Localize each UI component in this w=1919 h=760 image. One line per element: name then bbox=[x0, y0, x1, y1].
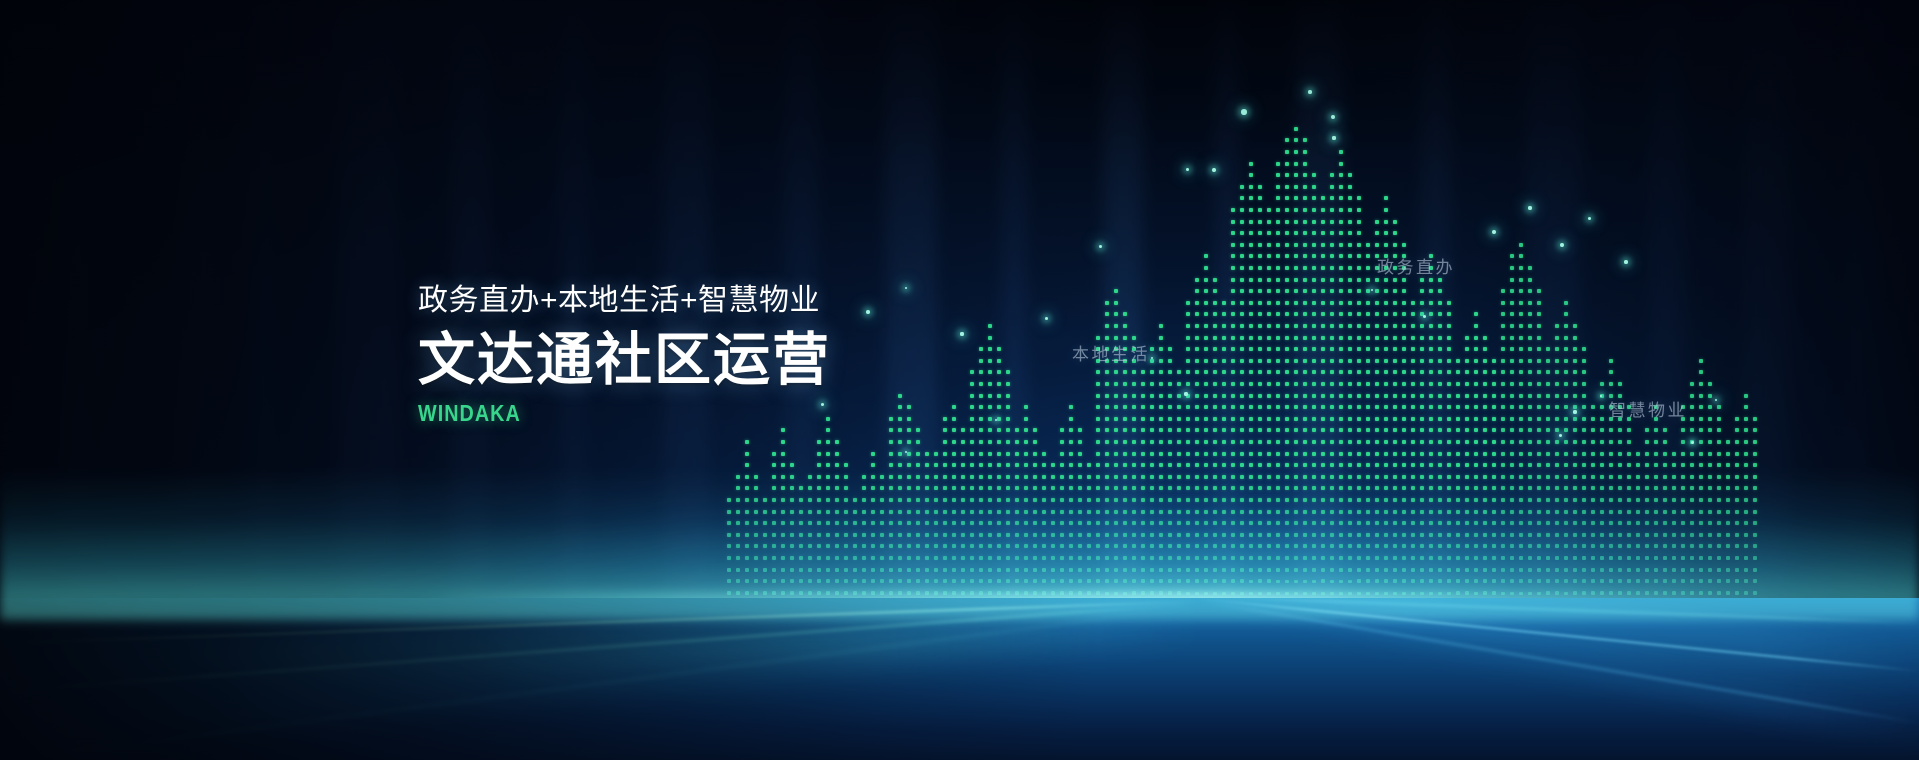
skyline-dot bbox=[880, 510, 884, 514]
skyline-dot bbox=[1627, 463, 1631, 467]
skyline-dot bbox=[970, 405, 974, 409]
sparkle-particle bbox=[1045, 317, 1048, 320]
skyline-dot bbox=[1249, 347, 1253, 351]
skyline-dot bbox=[1096, 370, 1100, 374]
skyline-dot bbox=[1303, 150, 1307, 154]
skyline-dot bbox=[1159, 498, 1163, 502]
skyline-dot bbox=[772, 579, 776, 583]
skyline-dot bbox=[1366, 452, 1370, 456]
skyline-dot bbox=[1240, 266, 1244, 270]
skyline-dot bbox=[961, 463, 965, 467]
skyline-dot bbox=[1258, 428, 1262, 432]
skyline-dot bbox=[1393, 324, 1397, 328]
skyline-dot bbox=[1555, 486, 1559, 490]
skyline-dot bbox=[1636, 452, 1640, 456]
skyline-dot bbox=[1375, 220, 1379, 224]
skyline-dot bbox=[1348, 289, 1352, 293]
skyline-dot bbox=[1555, 359, 1559, 363]
skyline-dot bbox=[1510, 428, 1514, 432]
skyline-dot bbox=[1402, 475, 1406, 479]
skyline-dot bbox=[1420, 359, 1424, 363]
skyline-dot bbox=[889, 486, 893, 490]
skyline-dot bbox=[1114, 359, 1118, 363]
skyline-dot bbox=[1078, 579, 1082, 583]
skyline-dot bbox=[952, 405, 956, 409]
skyline-dot bbox=[1357, 347, 1361, 351]
skyline-dot bbox=[1375, 336, 1379, 340]
skyline-dot bbox=[754, 556, 758, 560]
skyline-dot bbox=[889, 568, 893, 572]
skyline-dot bbox=[1240, 185, 1244, 189]
skyline-dot bbox=[1231, 417, 1235, 421]
skyline-dot bbox=[1285, 498, 1289, 502]
skyline-dot bbox=[1321, 382, 1325, 386]
skyline-dot bbox=[1357, 208, 1361, 212]
skyline-dot bbox=[1348, 463, 1352, 467]
skyline-dot bbox=[1429, 394, 1433, 398]
skyline-dot bbox=[1159, 405, 1163, 409]
skyline-dot bbox=[1582, 394, 1586, 398]
skyline-dot bbox=[1294, 336, 1298, 340]
skyline-dot bbox=[1015, 428, 1019, 432]
skyline-dot bbox=[943, 498, 947, 502]
skyline-dot bbox=[1447, 428, 1451, 432]
skyline-dot bbox=[916, 556, 920, 560]
skyline-dot bbox=[1114, 579, 1118, 583]
skyline-dot bbox=[1285, 452, 1289, 456]
skyline-dot bbox=[1249, 382, 1253, 386]
skyline-dot bbox=[1582, 579, 1586, 583]
sparkle-particle bbox=[1624, 260, 1628, 264]
skyline-dot bbox=[907, 405, 911, 409]
skyline-dot bbox=[997, 533, 1001, 537]
skyline-dot bbox=[1222, 347, 1226, 351]
skyline-dot bbox=[1267, 220, 1271, 224]
skyline-dot bbox=[1528, 312, 1532, 316]
skyline-dot bbox=[835, 498, 839, 502]
skyline-dot bbox=[1573, 475, 1577, 479]
skyline-dot bbox=[1744, 510, 1748, 514]
skyline-dot bbox=[1141, 475, 1145, 479]
skyline-dot bbox=[1591, 440, 1595, 444]
skyline-dot bbox=[1114, 521, 1118, 525]
skyline-dot bbox=[979, 452, 983, 456]
sparkle-particle bbox=[1331, 115, 1335, 119]
skyline-dot bbox=[1303, 347, 1307, 351]
skyline-dot bbox=[1141, 440, 1145, 444]
skyline-dot bbox=[1141, 370, 1145, 374]
skyline-dot bbox=[1600, 463, 1604, 467]
skyline-dot bbox=[1618, 475, 1622, 479]
skyline-dot bbox=[1276, 440, 1280, 444]
skyline-dot bbox=[1438, 486, 1442, 490]
skyline-dot bbox=[844, 568, 848, 572]
skyline-dot bbox=[1303, 208, 1307, 212]
skyline-dot bbox=[1150, 521, 1154, 525]
skyline-dot bbox=[1339, 312, 1343, 316]
skyline-dot bbox=[1105, 568, 1109, 572]
skyline-dot bbox=[1159, 544, 1163, 548]
skyline-dot bbox=[1060, 440, 1064, 444]
skyline-dot bbox=[1114, 382, 1118, 386]
skyline-dot bbox=[988, 579, 992, 583]
skyline-dot bbox=[1321, 486, 1325, 490]
skyline-dot bbox=[1564, 336, 1568, 340]
skyline-dot bbox=[1222, 394, 1226, 398]
skyline-dot bbox=[745, 533, 749, 537]
skyline-dot bbox=[1204, 254, 1208, 258]
skyline-dot bbox=[1267, 533, 1271, 537]
skyline-dot bbox=[772, 533, 776, 537]
skyline-dot bbox=[1249, 196, 1253, 200]
skyline-dot bbox=[1132, 521, 1136, 525]
skyline-dot bbox=[1258, 568, 1262, 572]
skyline-dot bbox=[898, 533, 902, 537]
skyline-dot bbox=[1510, 452, 1514, 456]
skyline-dot bbox=[1528, 568, 1532, 572]
skyline-dot bbox=[1429, 592, 1433, 595]
skyline-dot bbox=[1510, 463, 1514, 467]
skyline-dot bbox=[1177, 405, 1181, 409]
skyline-dot bbox=[1348, 580, 1352, 583]
skyline-dot bbox=[1015, 591, 1019, 595]
skyline-dot bbox=[1231, 521, 1235, 525]
skyline-dot bbox=[1618, 405, 1622, 409]
skyline-dot bbox=[1483, 347, 1487, 351]
skyline-dot bbox=[1618, 544, 1622, 548]
skyline-dot bbox=[1582, 591, 1586, 595]
skyline-dot bbox=[1276, 475, 1280, 479]
skyline-dot bbox=[1204, 359, 1208, 363]
skyline-dot bbox=[1042, 591, 1046, 595]
skyline-dot bbox=[763, 591, 767, 595]
skyline-dot bbox=[1321, 231, 1325, 235]
skyline-dot bbox=[1105, 544, 1109, 548]
skyline-dot bbox=[898, 544, 902, 548]
skyline-dot bbox=[1411, 347, 1415, 351]
skyline-dot bbox=[1420, 592, 1424, 595]
skyline-dot bbox=[1447, 417, 1451, 421]
skyline-dot bbox=[1312, 243, 1316, 247]
skyline-dot bbox=[1267, 521, 1271, 525]
skyline-dot bbox=[1690, 510, 1694, 514]
skyline-dot bbox=[1519, 486, 1523, 490]
skyline-dot bbox=[1132, 347, 1136, 351]
skyline-dot bbox=[1672, 591, 1676, 595]
skyline-dot bbox=[790, 533, 794, 537]
skyline-dot bbox=[844, 521, 848, 525]
skyline-dot bbox=[736, 533, 740, 537]
skyline-dot bbox=[961, 591, 965, 595]
skyline-dot bbox=[1618, 591, 1622, 595]
skyline-dot bbox=[754, 498, 758, 502]
skyline-dot bbox=[1357, 324, 1361, 328]
skyline-dot bbox=[1213, 312, 1217, 316]
skyline-dot bbox=[1654, 498, 1658, 502]
skyline-dot bbox=[1384, 592, 1388, 595]
skyline-dot bbox=[871, 579, 875, 583]
skyline-dot bbox=[1591, 428, 1595, 432]
skyline-dot bbox=[1051, 521, 1055, 525]
skyline-dot bbox=[898, 486, 902, 490]
skyline-dot bbox=[1366, 498, 1370, 502]
skyline-dot bbox=[781, 440, 785, 444]
skyline-dot bbox=[1609, 579, 1613, 583]
skyline-dot bbox=[1492, 452, 1496, 456]
skyline-dot bbox=[1753, 521, 1757, 525]
skyline-dot bbox=[1240, 579, 1244, 583]
skyline-dot bbox=[1276, 173, 1280, 177]
skyline-dot bbox=[1411, 579, 1415, 583]
skyline-dot bbox=[1366, 544, 1370, 548]
skyline-dot bbox=[745, 544, 749, 548]
skyline-dot bbox=[835, 544, 839, 548]
skyline-dot bbox=[1474, 521, 1478, 525]
skyline-dot bbox=[1393, 521, 1397, 525]
skyline-dot bbox=[997, 579, 1001, 583]
skyline-dot bbox=[925, 486, 929, 490]
skyline-dot bbox=[835, 568, 839, 572]
skyline-dot bbox=[1267, 510, 1271, 514]
skyline-dot bbox=[1384, 347, 1388, 351]
skyline-dot bbox=[1204, 521, 1208, 525]
skyline-dot bbox=[1339, 394, 1343, 398]
skyline-dot bbox=[1528, 405, 1532, 409]
skyline-dot bbox=[1078, 544, 1082, 548]
skyline-dot bbox=[1546, 579, 1550, 583]
skyline-dot bbox=[1303, 533, 1307, 537]
skyline-dot bbox=[1006, 498, 1010, 502]
skyline-dot bbox=[1303, 173, 1307, 177]
skyline-dot bbox=[1429, 498, 1433, 502]
skyline-dot bbox=[826, 579, 830, 583]
skyline-dot bbox=[1519, 336, 1523, 340]
skyline-dot bbox=[817, 579, 821, 583]
skyline-dot bbox=[1726, 440, 1730, 444]
skyline-dot bbox=[1402, 428, 1406, 432]
skyline-dot bbox=[925, 591, 929, 595]
skyline-dot bbox=[1186, 382, 1190, 386]
skyline-dot bbox=[1294, 162, 1298, 166]
skyline-dot bbox=[1258, 405, 1262, 409]
skyline-dot bbox=[1690, 544, 1694, 548]
skyline-dot bbox=[1447, 405, 1451, 409]
skyline-dot bbox=[1312, 533, 1316, 537]
skyline-dot bbox=[1483, 568, 1487, 572]
skyline-dot bbox=[1645, 533, 1649, 537]
skyline-dot bbox=[1555, 498, 1559, 502]
skyline-dot bbox=[1609, 486, 1613, 490]
skyline-dot bbox=[1510, 394, 1514, 398]
skyline-dot bbox=[997, 521, 1001, 525]
skyline-dot bbox=[1537, 475, 1541, 479]
skyline-dot bbox=[1699, 405, 1703, 409]
skyline-dot bbox=[1438, 370, 1442, 374]
skyline-dot bbox=[1366, 278, 1370, 282]
skyline-dot bbox=[1195, 324, 1199, 328]
skyline-dot bbox=[1159, 533, 1163, 537]
skyline-dot bbox=[1402, 289, 1406, 293]
skyline-dot bbox=[1294, 231, 1298, 235]
skyline-dot bbox=[1006, 417, 1010, 421]
skyline-dot bbox=[1141, 510, 1145, 514]
skyline-dot bbox=[1348, 533, 1352, 537]
skyline-dot bbox=[1690, 556, 1694, 560]
skyline-dot bbox=[1339, 592, 1343, 595]
skyline-dot bbox=[1078, 486, 1082, 490]
skyline-dot bbox=[1528, 266, 1532, 270]
skyline-dot bbox=[1528, 301, 1532, 305]
skyline-dot bbox=[1231, 556, 1235, 560]
skyline-dot bbox=[943, 544, 947, 548]
skyline-dot bbox=[1105, 452, 1109, 456]
skyline-dot bbox=[934, 591, 938, 595]
skyline-dot bbox=[1330, 301, 1334, 305]
skyline-dot bbox=[1537, 359, 1541, 363]
skyline-dot bbox=[1645, 568, 1649, 572]
skyline-dot bbox=[1429, 556, 1433, 560]
skyline-dot bbox=[970, 556, 974, 560]
skyline-dot bbox=[1303, 196, 1307, 200]
skyline-dot bbox=[844, 591, 848, 595]
perspective-ground bbox=[0, 598, 1919, 760]
skyline-dot bbox=[997, 347, 1001, 351]
skyline-dot bbox=[916, 579, 920, 583]
skyline-dot bbox=[844, 463, 848, 467]
skyline-dot bbox=[1492, 486, 1496, 490]
skyline-dot bbox=[1249, 301, 1253, 305]
skyline-dot bbox=[1420, 347, 1424, 351]
skyline-dot bbox=[1447, 521, 1451, 525]
skyline-dot bbox=[1474, 579, 1478, 583]
skyline-dot bbox=[1564, 359, 1568, 363]
skyline-dot bbox=[1753, 510, 1757, 514]
skyline-dot bbox=[1177, 544, 1181, 548]
skyline-dot bbox=[1645, 428, 1649, 432]
skyline-dot bbox=[1420, 533, 1424, 537]
skyline-dot bbox=[889, 510, 893, 514]
skyline-dot bbox=[1105, 324, 1109, 328]
skyline-dot bbox=[1294, 243, 1298, 247]
skyline-dot bbox=[1375, 278, 1379, 282]
skyline-dot bbox=[1519, 544, 1523, 548]
skyline-dot bbox=[1384, 510, 1388, 514]
skyline-dot bbox=[1393, 231, 1397, 235]
skyline-dot bbox=[1555, 370, 1559, 374]
skyline-dot bbox=[1429, 301, 1433, 305]
skyline-dot bbox=[1555, 544, 1559, 548]
skyline-dot bbox=[979, 405, 983, 409]
skyline-dot bbox=[1402, 254, 1406, 258]
skyline-dot bbox=[1465, 394, 1469, 398]
skyline-dot bbox=[1357, 510, 1361, 514]
skyline-dot bbox=[1366, 521, 1370, 525]
skyline-dot bbox=[1438, 475, 1442, 479]
skyline-dot bbox=[871, 521, 875, 525]
skyline-tower bbox=[1321, 0, 1366, 618]
skyline-dot bbox=[1177, 428, 1181, 432]
skyline-dot bbox=[745, 556, 749, 560]
skyline-dot bbox=[1501, 336, 1505, 340]
skyline-dot bbox=[1159, 359, 1163, 363]
skyline-dot bbox=[1672, 452, 1676, 456]
skyline-dot bbox=[862, 510, 866, 514]
skyline-dot bbox=[1330, 463, 1334, 467]
skyline-dot bbox=[1699, 370, 1703, 374]
skyline-dot bbox=[1159, 556, 1163, 560]
skyline-dot bbox=[1456, 370, 1460, 374]
skyline-dot bbox=[1168, 370, 1172, 374]
skyline-dot bbox=[1393, 301, 1397, 305]
skyline-dot bbox=[1744, 428, 1748, 432]
skyline-dot bbox=[1690, 463, 1694, 467]
skyline-dot bbox=[1267, 568, 1271, 572]
skyline-dot bbox=[1312, 440, 1316, 444]
skyline-dot bbox=[1330, 220, 1334, 224]
skyline-dot bbox=[1339, 440, 1343, 444]
skyline-dot bbox=[727, 533, 731, 537]
skyline-dot bbox=[943, 521, 947, 525]
skyline-dot bbox=[1330, 533, 1334, 537]
skyline-dot bbox=[1186, 301, 1190, 305]
skyline-dot bbox=[1222, 301, 1226, 305]
skyline-dot bbox=[1438, 405, 1442, 409]
skyline-dot bbox=[1051, 533, 1055, 537]
skyline-dot bbox=[916, 533, 920, 537]
skyline-dot bbox=[1483, 370, 1487, 374]
skyline-dot bbox=[1339, 254, 1343, 258]
skyline-dot bbox=[1312, 544, 1316, 548]
skyline-dot bbox=[979, 498, 983, 502]
skyline-dot bbox=[1528, 475, 1532, 479]
skyline-dot bbox=[1483, 382, 1487, 386]
skyline-dot bbox=[1258, 544, 1262, 548]
skyline-dot bbox=[754, 510, 758, 514]
skyline-dot bbox=[1276, 254, 1280, 258]
skyline-dot bbox=[943, 428, 947, 432]
skyline-dot bbox=[907, 510, 911, 514]
skyline-dot bbox=[772, 568, 776, 572]
skyline-dot bbox=[1393, 544, 1397, 548]
skyline-dot bbox=[1303, 278, 1307, 282]
skyline-dot bbox=[1420, 498, 1424, 502]
skyline-dot bbox=[1321, 533, 1325, 537]
skyline-dot bbox=[1258, 243, 1262, 247]
skyline-dot bbox=[970, 568, 974, 572]
skyline-dot bbox=[1402, 533, 1406, 537]
skyline-dot bbox=[1303, 452, 1307, 456]
skyline-dot bbox=[1501, 382, 1505, 386]
skyline-dot bbox=[1321, 405, 1325, 409]
skyline-dot bbox=[1159, 463, 1163, 467]
skyline-dot bbox=[1726, 568, 1730, 572]
skyline-dot bbox=[1285, 440, 1289, 444]
skyline-dot bbox=[1600, 440, 1604, 444]
skyline-dot bbox=[1222, 521, 1226, 525]
skyline-dot bbox=[1303, 592, 1307, 595]
skyline-dot bbox=[1204, 266, 1208, 270]
skyline-dot bbox=[970, 533, 974, 537]
skyline-dot bbox=[1276, 382, 1280, 386]
skyline-dot bbox=[1654, 475, 1658, 479]
skyline-dot bbox=[1024, 486, 1028, 490]
skyline-dot bbox=[934, 533, 938, 537]
skyline-dot bbox=[1294, 173, 1298, 177]
skyline-dot bbox=[1087, 510, 1091, 514]
skyline-tower bbox=[934, 0, 970, 618]
skyline-dot bbox=[1240, 556, 1244, 560]
skyline-dot bbox=[817, 568, 821, 572]
